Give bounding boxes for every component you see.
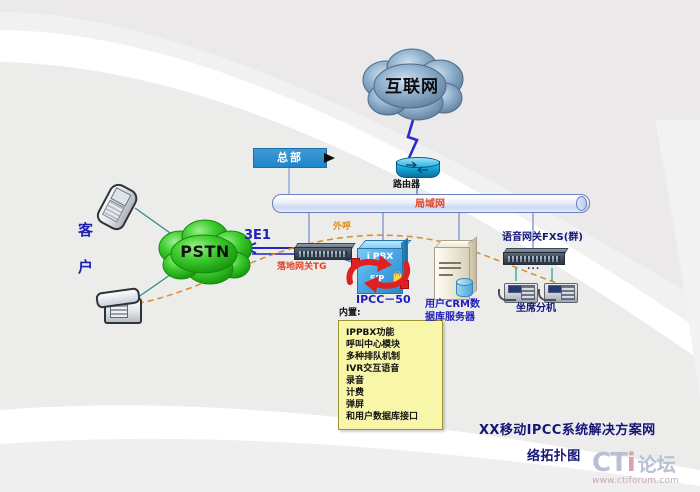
router-icon: [396, 157, 438, 179]
router-arrows-icon: [403, 161, 431, 174]
watermark-brand-i: i: [627, 450, 636, 476]
crm-label-line2: 据库服务器: [425, 312, 475, 324]
feature-item: 和用户数据库接口: [346, 411, 438, 423]
builtin-features-box: IPPBX功能 呼叫中心模块 多种排队机制 IVR交互语音 录音 计费 弹屏 和…: [338, 320, 443, 430]
ipcc-50-label: IPCC－50: [356, 294, 411, 307]
crm-label-line1: 用户CRM数: [425, 299, 480, 311]
crm-database-server-icon: [430, 240, 476, 298]
customer-label-line2: 户: [78, 259, 93, 276]
pstn-cloud-label: PSTN: [150, 242, 260, 261]
lan-label: 局域网: [272, 195, 588, 210]
headquarters-banner: 总部: [253, 148, 327, 168]
feature-item: 弹屏: [346, 399, 438, 411]
fxs-gateway-label: 语音网关FXS(群): [502, 232, 583, 244]
feature-item: 呼叫中心模块: [346, 339, 438, 351]
customer-label-line1: 客: [78, 222, 93, 239]
ipcc-bidirectional-arrows-icon: [340, 252, 418, 296]
watermark-brand-cn: 论坛: [638, 452, 676, 478]
network-topology-diagram: 互联网 路由器 局域网 总部: [0, 0, 700, 492]
router-label: 路由器: [393, 180, 420, 190]
feature-item: IPPBX功能: [346, 327, 438, 339]
agent-desk-phone-1-icon: [498, 276, 538, 302]
builtin-features-list: IPPBX功能 呼叫中心模块 多种排队机制 IVR交互语音 录音 计费 弹屏 和…: [346, 327, 438, 423]
feature-item: 计费: [346, 387, 438, 399]
headquarters-banner-tail: [324, 153, 335, 163]
trunk-3e1-label: 3E1: [244, 229, 271, 244]
landline-phone-icon: [96, 290, 142, 322]
feature-item: 录音: [346, 375, 438, 387]
internet-cloud: 互联网: [352, 46, 472, 122]
internet-cloud-label: 互联网: [352, 72, 472, 97]
fxs-ellipsis-label: ...: [527, 262, 540, 272]
builtin-header-label: 内置:: [339, 308, 361, 318]
agent-extension-label: 坐席分机: [516, 303, 556, 315]
lightning-link-internet-router: [408, 120, 417, 158]
diagram-title-line1: XX移动IPCC系统解决方案网: [479, 424, 656, 439]
landing-gateway-tg-label: 落地网关TG: [277, 262, 327, 272]
watermark-brand-ct: CT: [592, 450, 627, 476]
feature-item: IVR交互语音: [346, 363, 438, 375]
agent-desk-phone-2-icon: [538, 276, 578, 302]
outbound-call-label: 外呼: [333, 222, 351, 232]
fxs-voice-gateway-icon: [503, 248, 565, 263]
feature-item: 多种排队机制: [346, 351, 438, 363]
watermark: CT i 论坛 www.ctiforum.com: [592, 450, 679, 486]
diagram-title-line2: 络拓扑图: [527, 450, 581, 465]
database-cylinder-icon: [456, 278, 471, 296]
headquarters-label: 总部: [254, 149, 326, 167]
watermark-url: www.ctiforum.com: [592, 476, 679, 486]
